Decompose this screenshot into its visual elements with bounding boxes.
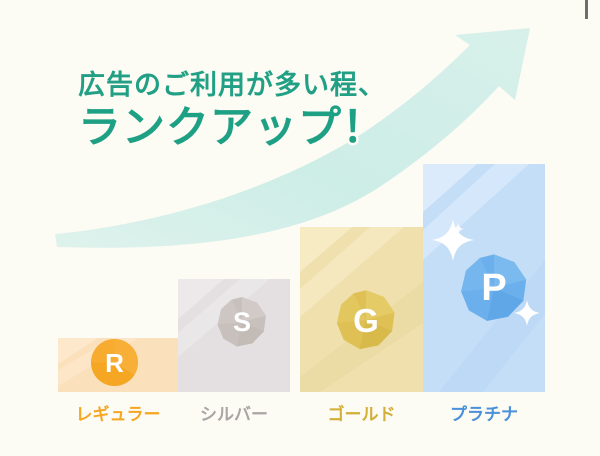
headline-line-1: 広告のご利用が多い程、 bbox=[78, 72, 386, 99]
tier-label-regular: レギュラー bbox=[58, 400, 178, 425]
rank-bar-chart bbox=[0, 0, 600, 451]
headline-line-2: ランクアップ！ bbox=[78, 107, 386, 150]
tier-label-platinum: プラチナ bbox=[423, 400, 545, 425]
tier-label-gold: ゴールド bbox=[300, 400, 423, 425]
badge-gold-letter: G bbox=[353, 304, 379, 337]
tier-label-silver: シルバー bbox=[176, 400, 292, 425]
badge-silver-letter: S bbox=[233, 309, 251, 336]
sparkle-star-tiny-icon bbox=[452, 222, 464, 234]
corner-mark bbox=[585, 0, 588, 19]
tier-labels: レギュラー シルバー ゴールド プラチナ bbox=[0, 400, 600, 430]
sparkle-star-small-icon bbox=[514, 300, 540, 326]
badge-platinum-letter: P bbox=[481, 269, 506, 307]
headline: 広告のご利用が多い程、 ランクアップ！ bbox=[78, 72, 386, 150]
promo-banner: 広告のご利用が多い程、 ランクアップ！ bbox=[0, 0, 600, 451]
badge-regular: R bbox=[91, 339, 138, 386]
badge-regular-letter: R bbox=[105, 350, 124, 376]
badge-silver: S bbox=[216, 296, 268, 348]
badge-gold: G bbox=[335, 289, 397, 351]
